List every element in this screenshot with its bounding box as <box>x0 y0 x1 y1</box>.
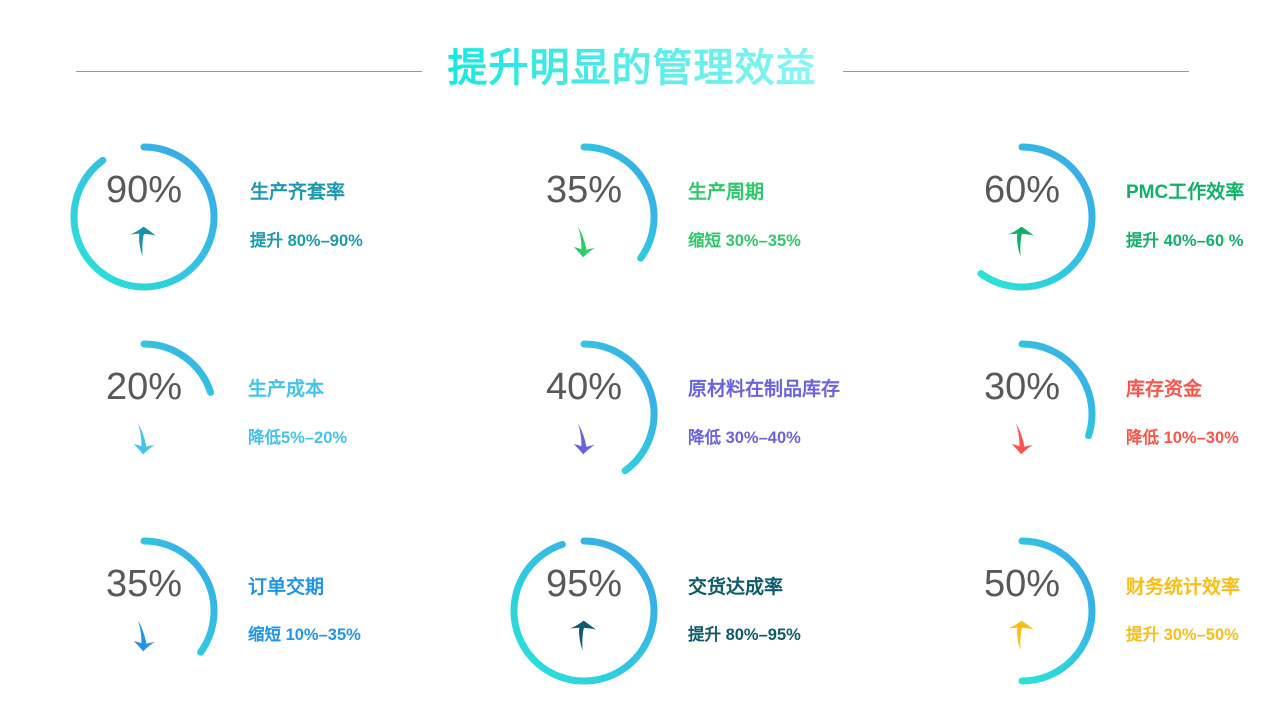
metric-subtitle: 提升 30%–50% <box>1126 626 1264 646</box>
gauge-value: 95% <box>508 565 660 603</box>
metric-subtitle: 提升 80%–90% <box>250 232 440 252</box>
trend-arrow-wrap <box>508 422 660 458</box>
gauge-value: 30% <box>946 368 1098 406</box>
arrow-down-icon <box>569 225 599 259</box>
trend-arrow-wrap <box>508 619 660 655</box>
gauge-arc-svg <box>68 338 220 490</box>
metric-title: PMC工作效率 <box>1126 182 1264 205</box>
metric-subtitle: 降低 30%–40% <box>688 429 878 449</box>
gauge-ring: 95% <box>508 535 660 687</box>
metric-cell: 40% 原材料在制品库存 降低 30%–40% <box>440 315 878 512</box>
gauge-arc-svg <box>68 141 220 293</box>
gauge-ring: 35% <box>68 535 220 687</box>
page-title: 提升明显的管理效益 <box>446 48 819 94</box>
metric-title: 财务统计效率 <box>1126 577 1264 600</box>
trend-arrow-wrap <box>946 619 1098 655</box>
gauge-ring: 50% <box>946 535 1098 687</box>
trend-arrow-wrap <box>68 422 220 458</box>
metric-title: 交货达成率 <box>688 577 878 600</box>
metric-subtitle: 降低 10%–30% <box>1126 429 1264 449</box>
gauge-arc-svg <box>68 535 220 687</box>
gauge-progress-arc <box>981 147 1092 287</box>
metric-subtitle: 缩短 30%–35% <box>688 232 878 252</box>
metric-cell: 35% 生产周期 缩短 30%–35% <box>440 118 878 315</box>
metric-title: 生产成本 <box>248 379 438 402</box>
gauge-value: 90% <box>68 171 220 209</box>
metric-cell: 50% 财务统计效率 提升 30%–50% <box>878 513 1264 710</box>
metric-title: 库存资金 <box>1126 379 1264 402</box>
metric-cell: 60% PMC工作效率 提升 40%–60 % <box>878 118 1264 315</box>
arrow-down-icon <box>569 422 599 456</box>
trend-arrow-wrap <box>68 619 220 655</box>
metric-cell: 90% 生产齐套率 提升 80%–90% <box>0 118 440 315</box>
gauge-ring: 90% <box>68 141 220 293</box>
metric-labels: 订单交期 缩短 10%–35% <box>248 577 438 647</box>
metric-labels: 财务统计效率 提升 30%–50% <box>1126 577 1264 647</box>
gauge-arc-svg <box>508 338 660 490</box>
metric-labels: 生产成本 降低5%–20% <box>248 379 438 449</box>
metric-cell: 20% 生产成本 降低5%–20% <box>0 315 440 512</box>
gauge-progress-arc <box>74 147 214 287</box>
arrow-down-icon <box>1007 422 1037 456</box>
metric-cell: 95% 交货达成率 提升 80%–95% <box>440 513 878 710</box>
metric-cell: 35% 订单交期 缩短 10%–35% <box>0 513 440 710</box>
gauge-progress-arc <box>1022 541 1092 681</box>
gauge-value: 50% <box>946 565 1098 603</box>
metric-title: 生产齐套率 <box>250 182 440 205</box>
metric-subtitle: 提升 40%–60 % <box>1126 232 1264 252</box>
arrow-down-icon <box>129 619 159 653</box>
metric-labels: 生产周期 缩短 30%–35% <box>688 182 878 252</box>
header-rule-left <box>76 71 422 72</box>
arrow-up-icon <box>129 225 159 259</box>
gauge-arc-svg <box>508 141 660 293</box>
metric-title: 生产周期 <box>688 182 878 205</box>
gauge-ring: 40% <box>508 338 660 490</box>
gauge-value: 35% <box>68 565 220 603</box>
page-header: 提升明显的管理效益 <box>0 40 1264 102</box>
gauge-value: 20% <box>68 368 220 406</box>
gauge-arc-svg <box>946 535 1098 687</box>
gauge-value: 60% <box>946 171 1098 209</box>
gauge-arc-svg <box>508 535 660 687</box>
gauge-ring: 60% <box>946 141 1098 293</box>
arrow-up-icon <box>1007 619 1037 653</box>
metric-subtitle: 缩短 10%–35% <box>248 626 438 646</box>
gauge-arc-svg <box>946 141 1098 293</box>
header-rule-right <box>843 71 1189 72</box>
trend-arrow-wrap <box>68 225 220 261</box>
metric-labels: PMC工作效率 提升 40%–60 % <box>1126 182 1264 252</box>
gauge-ring: 35% <box>508 141 660 293</box>
arrow-down-icon <box>129 422 159 456</box>
metric-cell: 30% 库存资金 降低 10%–30% <box>878 315 1264 512</box>
metric-title: 原材料在制品库存 <box>688 379 878 402</box>
trend-arrow-wrap <box>946 422 1098 458</box>
gauge-arc-svg <box>946 338 1098 490</box>
metric-labels: 原材料在制品库存 降低 30%–40% <box>688 379 878 449</box>
arrow-up-icon <box>569 619 599 653</box>
arrow-up-icon <box>1007 225 1037 259</box>
gauge-value: 40% <box>508 368 660 406</box>
trend-arrow-wrap <box>508 225 660 261</box>
trend-arrow-wrap <box>946 225 1098 261</box>
gauge-ring: 30% <box>946 338 1098 490</box>
gauge-value: 35% <box>508 171 660 209</box>
metric-labels: 库存资金 降低 10%–30% <box>1126 379 1264 449</box>
metric-subtitle: 降低5%–20% <box>248 429 438 449</box>
gauge-ring: 20% <box>68 338 220 490</box>
metric-labels: 交货达成率 提升 80%–95% <box>688 577 878 647</box>
metrics-grid: 90% 生产齐套率 提升 80%–90% 35% <box>0 118 1264 710</box>
metric-subtitle: 提升 80%–95% <box>688 626 878 646</box>
gauge-progress-arc <box>514 541 654 681</box>
metric-title: 订单交期 <box>248 577 438 600</box>
metric-labels: 生产齐套率 提升 80%–90% <box>250 182 440 252</box>
